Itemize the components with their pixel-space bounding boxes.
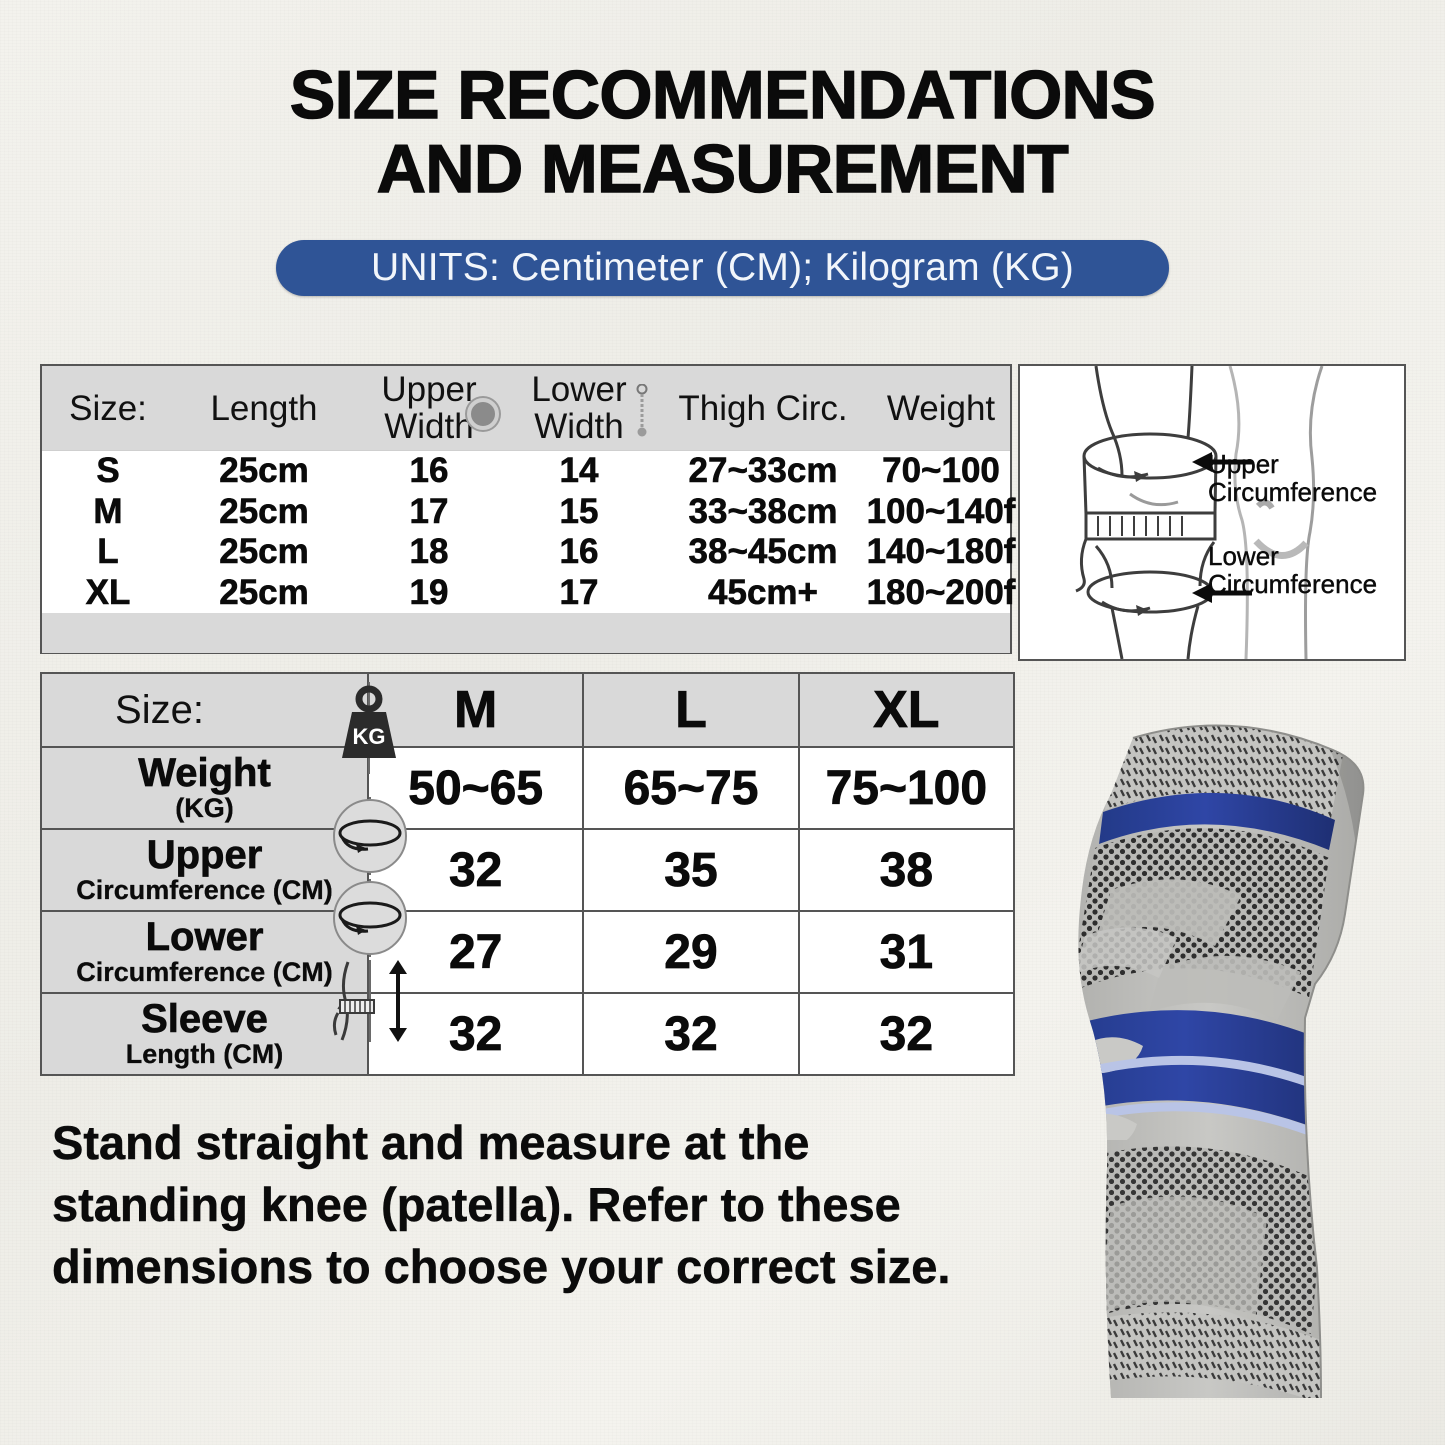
cell-lower-width: 14	[504, 451, 654, 492]
cell-thigh-circ: 45cm+	[654, 573, 872, 614]
cell-thigh-circ: 33~38cm	[654, 492, 872, 533]
cell-length: 25cm	[174, 573, 354, 614]
measurement-note: Stand straight and measure at the standi…	[52, 1112, 982, 1298]
diagram-label-upper: Upper Circumference	[1208, 450, 1377, 506]
cell-lower-width: 16	[504, 532, 654, 573]
cell-label-weight: Weight (KG)	[42, 748, 369, 828]
cell-thigh-circ: 38~45cm	[654, 532, 872, 573]
diagram-label-lower: Lower Circumference	[1208, 542, 1377, 598]
cell-weight: 140~180f	[872, 532, 1010, 573]
knee-sleeve-illustration	[1015, 700, 1445, 1400]
size-table-primary-footer	[42, 613, 1010, 653]
cell-weight-xl: 75~100	[800, 748, 1013, 828]
page-title: SIZE RECOMMENDATIONS AND MEASUREMENT	[0, 58, 1445, 206]
header-size: Size:	[42, 366, 174, 450]
table-row: M 25cm 17 15 33~38cm 100~140f	[42, 492, 1010, 533]
table-row-header: Size: M L XL	[42, 674, 1013, 748]
column-header-m: M	[369, 674, 584, 746]
column-header-xl: XL	[800, 674, 1013, 746]
table-row: S 25cm 16 14 27~33cm 70~100	[42, 451, 1010, 492]
page-title-line1: SIZE RECOMMENDATIONS	[290, 57, 1155, 133]
cell-upper-circ-m: 32	[369, 830, 584, 910]
measure-point-icon	[467, 398, 499, 430]
cell-size: XL	[42, 573, 174, 614]
cell-upper-circ-l: 35	[584, 830, 799, 910]
cell-size: S	[42, 451, 174, 492]
cell-label-upper-circumference: Upper Circumference (CM)	[42, 830, 369, 910]
cell-upper-width: 19	[354, 573, 504, 614]
cell-thigh-circ: 27~33cm	[654, 451, 872, 492]
cell-length: 25cm	[174, 532, 354, 573]
table-row: Upper Circumference (CM) 32 35 38	[42, 830, 1013, 912]
cell-lower-circ-m: 27	[369, 912, 584, 992]
knee-measurement-illustration	[1020, 366, 1404, 659]
cell-sleeve-xl: 32	[800, 994, 1013, 1074]
size-table-primary-body: S 25cm 16 14 27~33cm 70~100 M 25cm 17 15…	[42, 451, 1010, 613]
cell-sleeve-m: 32	[369, 994, 584, 1074]
cell-weight: 100~140f	[872, 492, 1010, 533]
page-title-line2: AND MEASUREMENT	[0, 132, 1445, 206]
cell-lower-width: 17	[504, 573, 654, 614]
table-row: Lower Circumference (CM) 27 29 31	[42, 912, 1013, 994]
cell-weight-m: 50~65	[369, 748, 584, 828]
product-image-knee-sleeve	[1015, 700, 1445, 1400]
cell-label-lower-circumference: Lower Circumference (CM)	[42, 912, 369, 992]
table-row: Sleeve Length (CM) 32 32 32	[42, 994, 1013, 1076]
cell-upper-circ-xl: 38	[800, 830, 1013, 910]
units-badge: UNITS: Centimeter (CM); Kilogram (KG)	[276, 240, 1169, 296]
measure-ruler-icon	[632, 384, 652, 438]
cell-label-sleeve-length: Sleeve Length (CM)	[42, 994, 369, 1074]
table-row: XL 25cm 19 17 45cm+ 180~200f	[42, 573, 1010, 614]
cell-upper-width: 18	[354, 532, 504, 573]
table-row: Weight (KG) 50~65 65~75 75~100	[42, 748, 1013, 830]
measurement-diagram: Upper Circumference Lower Circumference	[1018, 364, 1406, 661]
header-length: Length	[174, 366, 354, 450]
cell-size: L	[42, 532, 174, 573]
cell-lower-circ-xl: 31	[800, 912, 1013, 992]
cell-lower-width: 15	[504, 492, 654, 533]
size-table-primary: Size: Length Upper Width Lower Width Thi…	[40, 364, 1012, 654]
cell-weight-l: 65~75	[584, 748, 799, 828]
cell-upper-width: 17	[354, 492, 504, 533]
cell-size-label: Size:	[42, 674, 369, 746]
column-header-l: L	[584, 674, 799, 746]
cell-weight: 180~200f	[872, 573, 1010, 614]
size-table-primary-header: Size: Length Upper Width Lower Width Thi…	[42, 366, 1010, 451]
table-row: L 25cm 18 16 38~45cm 140~180f	[42, 532, 1010, 573]
cell-length: 25cm	[174, 492, 354, 533]
cell-size: M	[42, 492, 174, 533]
cell-sleeve-l: 32	[584, 994, 799, 1074]
cell-length: 25cm	[174, 451, 354, 492]
header-thigh-circ: Thigh Circ.	[654, 366, 872, 450]
cell-lower-circ-l: 29	[584, 912, 799, 992]
size-table-secondary: Size: M L XL Weight (KG) 50~65 65~75 75~…	[40, 672, 1015, 1076]
header-weight: Weight	[872, 366, 1010, 450]
cell-upper-width: 16	[354, 451, 504, 492]
cell-weight: 70~100	[872, 451, 1010, 492]
